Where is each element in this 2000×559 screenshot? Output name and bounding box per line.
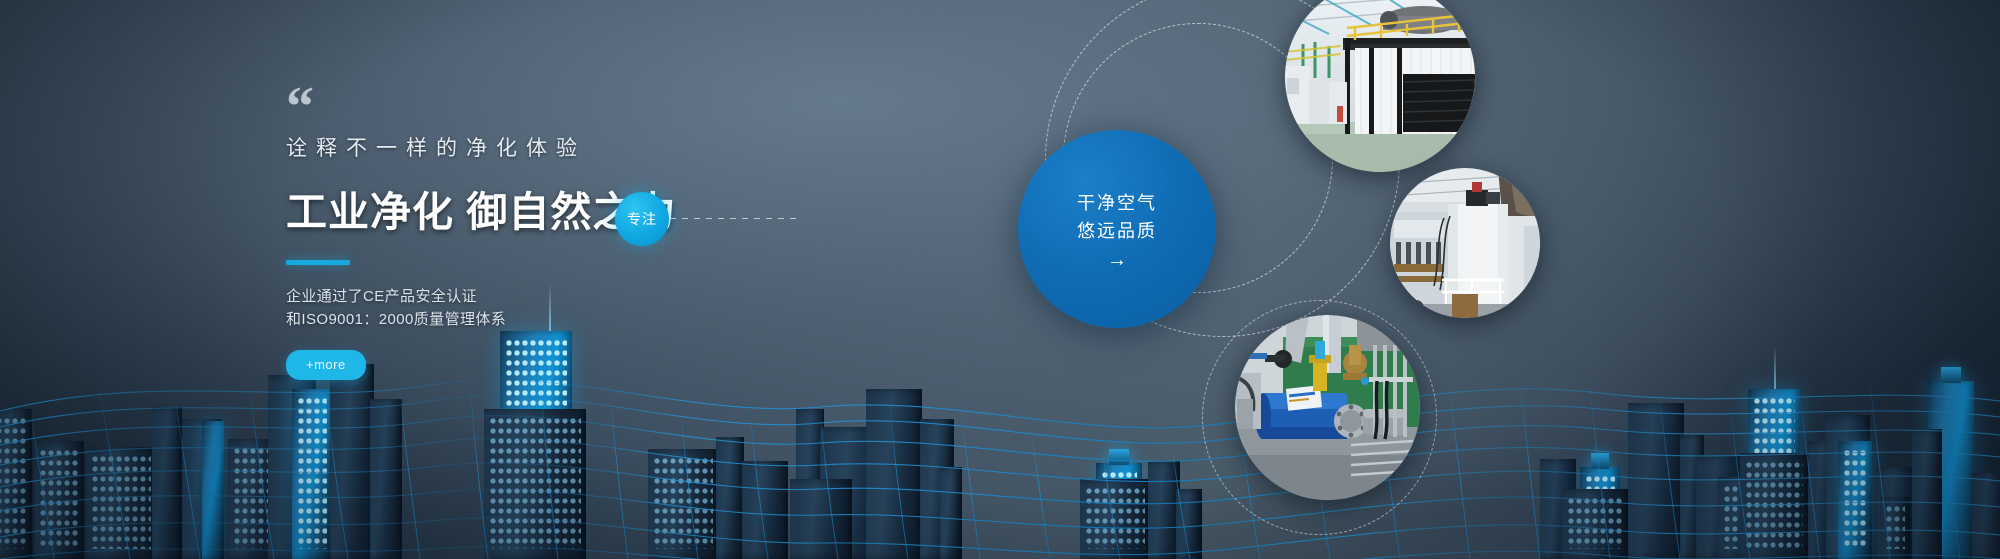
hero-banner: “ 诠释不一样的净化体验 工业净化 御自然之力 企业通过了CE产品安全认证 和I… [0,0,2000,559]
hero-headline: 工业净化 御自然之力 [286,178,846,238]
quote-mark-icon: “ [286,92,846,122]
focus-badge[interactable]: 专注 [615,192,669,246]
hero-subtitle-line-2: 和ISO9001：2000质量管理体系 [286,308,846,331]
focus-badge-label: 专注 [627,209,657,229]
main-circle-line-1: 干净空气 [1077,189,1157,217]
photo-textile-machinery[interactable] [1390,168,1540,318]
arrow-right-icon: → [1107,251,1127,269]
hero-subtitle: 企业通过了CE产品安全认证 和ISO9001：2000质量管理体系 [286,285,846,331]
hero-text-block: “ 诠释不一样的净化体验 工业净化 御自然之力 企业通过了CE产品安全认证 和I… [286,92,846,380]
main-circle-line-2: 悠远品质 [1077,217,1157,245]
hero-kicker: 诠释不一样的净化体验 [286,132,846,162]
main-blue-circle[interactable]: 干净空气 悠远品质 → [1018,130,1216,328]
photo-pipeline-valves[interactable] [1235,315,1420,500]
hero-subtitle-line-1: 企业通过了CE产品安全认证 [286,285,846,308]
accent-rule [286,260,350,265]
dashed-connector-line [670,218,802,219]
more-button[interactable]: +more [286,350,366,380]
